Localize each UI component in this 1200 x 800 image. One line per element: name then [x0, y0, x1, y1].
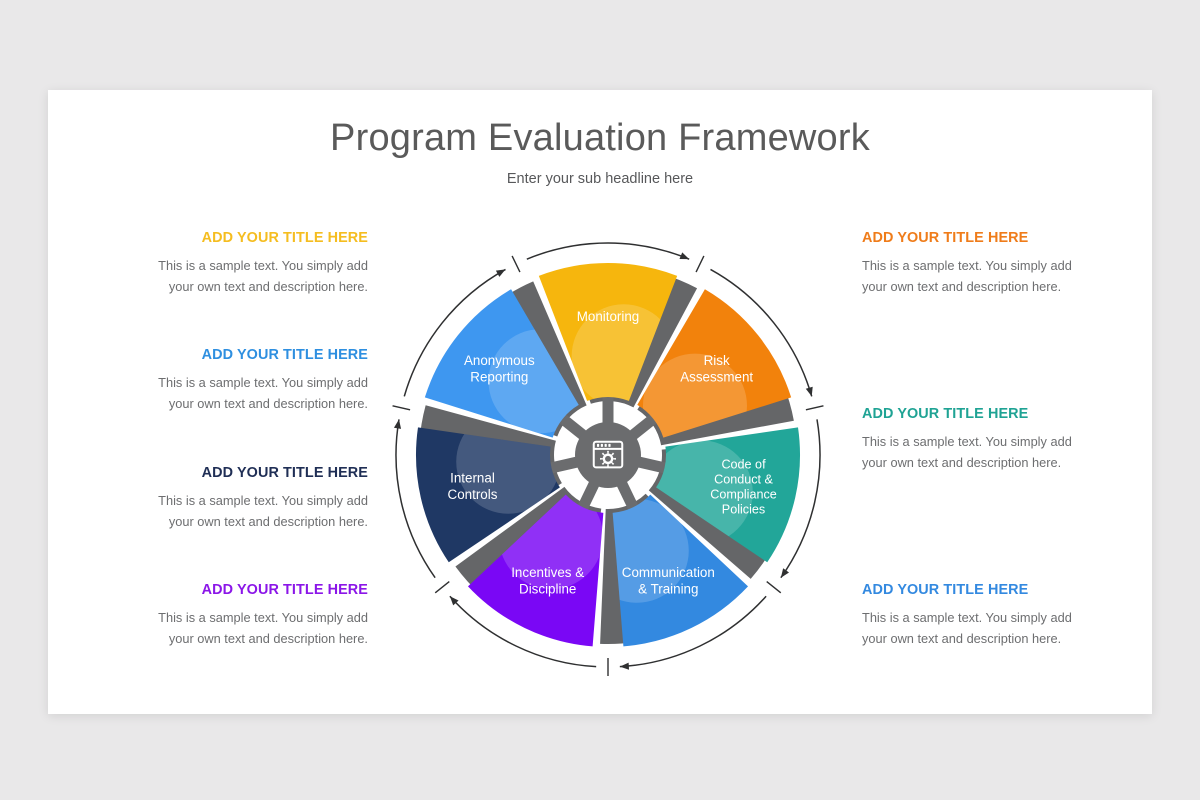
block-body: This is a sample text. You simply add yo… [130, 256, 368, 297]
block-title: ADD YOUR TITLE HERE [130, 347, 368, 364]
segment-label: InternalControls [448, 471, 498, 502]
right-text-block-1[interactable]: ADD YOUR TITLE HERE This is a sample tex… [862, 230, 1100, 298]
block-title: ADD YOUR TITLE HERE [130, 582, 368, 599]
outer-ring-tick [767, 582, 781, 593]
block-title: ADD YOUR TITLE HERE [130, 230, 368, 247]
left-text-block-1[interactable]: ADD YOUR TITLE HERE This is a sample tex… [130, 230, 368, 298]
outer-ring-arrowhead [679, 252, 690, 262]
segment-label: AnonymousReporting [464, 353, 535, 384]
outer-ring-arc [527, 243, 689, 259]
page-title: Program Evaluation Framework [48, 117, 1152, 160]
right-text-block-2[interactable]: ADD YOUR TITLE HERE This is a sample tex… [862, 406, 1100, 474]
block-title: ADD YOUR TITLE HERE [130, 465, 368, 482]
right-text-block-3[interactable]: ADD YOUR TITLE HERE This is a sample tex… [862, 582, 1100, 650]
outer-ring-arrowhead [620, 663, 629, 671]
block-body: This is a sample text. You simply add yo… [862, 256, 1100, 297]
block-title: ADD YOUR TITLE HERE [862, 230, 1100, 247]
left-text-block-3[interactable]: ADD YOUR TITLE HERE This is a sample tex… [130, 465, 368, 533]
left-text-block-2[interactable]: ADD YOUR TITLE HERE This is a sample tex… [130, 347, 368, 415]
outer-ring-tick [696, 256, 704, 272]
outer-ring-arrowhead [496, 266, 507, 277]
wheel-svg: MonitoringRiskAssessmentCode ofConduct &… [358, 205, 858, 705]
slide-canvas: Program Evaluation Framework Enter your … [48, 90, 1152, 714]
outer-ring-arrowhead [778, 568, 789, 580]
block-body: This is a sample text. You simply add yo… [862, 608, 1100, 649]
outer-ring-tick [806, 406, 824, 410]
segment-label: Incentives &Discipline [511, 565, 584, 596]
block-body: This is a sample text. You simply add yo… [130, 373, 368, 414]
outer-ring-tick [435, 582, 449, 593]
outer-ring-tick [393, 406, 411, 410]
block-body: This is a sample text. You simply add yo… [130, 608, 368, 649]
outer-ring-tick [512, 256, 520, 272]
block-body: This is a sample text. You simply add yo… [130, 491, 368, 532]
page-subtitle: Enter your sub headline here [48, 171, 1152, 187]
block-title: ADD YOUR TITLE HERE [862, 582, 1100, 599]
block-body: This is a sample text. You simply add yo… [862, 432, 1100, 473]
block-title: ADD YOUR TITLE HERE [862, 406, 1100, 423]
outer-ring-arrowhead [806, 387, 815, 398]
process-wheel-diagram: MonitoringRiskAssessmentCode ofConduct &… [358, 205, 858, 705]
left-text-block-4[interactable]: ADD YOUR TITLE HERE This is a sample tex… [130, 582, 368, 650]
center-hub[interactable] [575, 422, 641, 488]
segment-label: Monitoring [577, 309, 640, 324]
